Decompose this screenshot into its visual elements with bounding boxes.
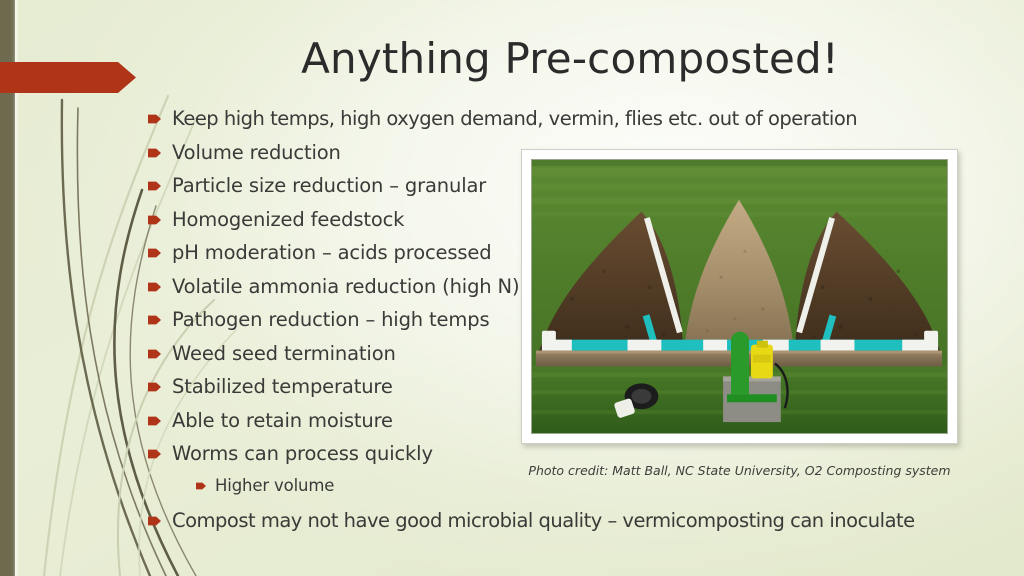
arrow-bullet-icon — [148, 148, 161, 158]
arrow-bullet-icon — [148, 181, 161, 191]
arrow-bullet-icon — [196, 482, 206, 490]
arrow-bullet-icon — [148, 449, 161, 459]
page-title: Anything Pre-composted! — [140, 33, 1000, 85]
photo-credit-caption: Photo credit: Matt Ball, NC State Univer… — [521, 463, 958, 479]
red-arrow-banner — [0, 62, 136, 93]
list-item: Keep high temps, high oxygen demand, ver… — [148, 106, 948, 140]
arrow-bullet-icon — [148, 114, 161, 124]
list-item-label: Keep high temps, high oxygen demand, ver… — [172, 106, 948, 131]
presentation-slide: Anything Pre-composted! Keep high temps,… — [0, 0, 1024, 576]
arrow-bullet-icon — [148, 315, 161, 325]
arrow-bullet-icon — [148, 382, 161, 392]
arrow-bullet-icon — [148, 416, 161, 426]
arrow-bullet-icon — [148, 516, 161, 526]
list-item: Compost may not have good microbial qual… — [148, 508, 948, 541]
photo-frame — [521, 149, 958, 444]
compost-windrow-photo — [531, 159, 948, 434]
arrow-bullet-icon — [148, 282, 161, 292]
arrow-bullet-icon — [148, 248, 161, 258]
list-item-label: Compost may not have good microbial qual… — [172, 508, 948, 533]
arrow-bullet-icon — [148, 349, 161, 359]
photo-illustration — [532, 160, 947, 433]
sub-list-item: Higher volume — [148, 475, 948, 508]
arrow-bullet-icon — [148, 215, 161, 225]
